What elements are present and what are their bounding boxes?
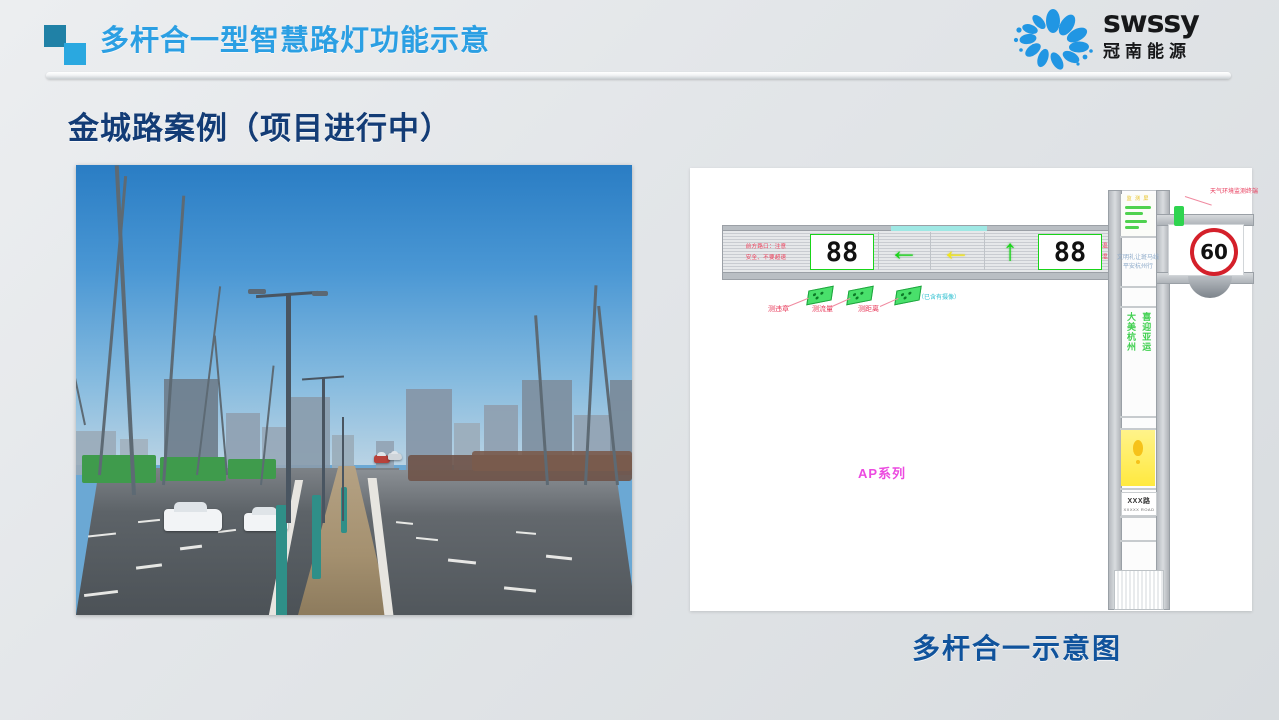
pole-left-rail — [1108, 190, 1122, 610]
lane-arrow-3: ↑ — [984, 232, 1035, 270]
advertising-panel — [1121, 430, 1155, 486]
lane-arrow-1: ← — [878, 232, 929, 270]
logo-text-block: swssy 冠南能源 — [1103, 8, 1259, 60]
photo-lamp-head — [312, 291, 328, 296]
photo-lamp-pole — [342, 417, 344, 521]
marker-square-light — [64, 43, 86, 65]
sensor-note: （已含有摄像） — [918, 292, 960, 301]
street-photo — [76, 165, 632, 615]
blue-slogan-line-2: 平安杭州行 — [1115, 263, 1161, 272]
pole-diagram-panel: 前方路口：注意 安全、不要超速 88 ← ← ↑ 88 温度：25℃ PM2.5… — [690, 168, 1252, 611]
photo-truck — [160, 457, 226, 481]
countdown-digits-right: 88 — [1054, 239, 1087, 266]
photo-lamp-pole — [322, 377, 325, 523]
blue-slogan-panel: 文明礼让斑马线 平安杭州行 — [1115, 254, 1161, 272]
photo-lamp-head — [248, 289, 266, 294]
ap-series-label: AP系列 — [858, 463, 906, 482]
header-divider — [46, 72, 1231, 79]
marker-square-dark — [44, 25, 66, 47]
vertical-slogan-right: 喜迎亚运 — [1140, 312, 1151, 418]
header-marker-icon — [44, 25, 92, 67]
logo-chinese-name: 冠南能源 — [1103, 43, 1259, 60]
speed-limit-value: 60 — [1200, 240, 1228, 264]
company-logo: swssy 冠南能源 — [1007, 6, 1257, 72]
street-name-cn: XXX路 — [1127, 496, 1150, 506]
dome-camera-icon — [1188, 276, 1232, 298]
countdown-display-right: 88 — [1038, 234, 1102, 270]
led-message-board: 前方路口：注意 安全、不要超速 — [730, 236, 802, 266]
logo-emblem-icon — [1007, 8, 1099, 70]
vertical-slogan-left: 大美杭州 — [1125, 312, 1136, 418]
photo-tree — [312, 495, 321, 579]
countdown-display-left: 88 — [810, 234, 874, 270]
diagram-caption: 多杆合一示意图 — [912, 627, 1122, 667]
sensor-icon-1 — [806, 286, 834, 306]
monitor-screen-panel: 监 测 屏 — [1121, 194, 1155, 236]
photo-car — [388, 453, 402, 460]
speed-limit-sign: 60 — [1190, 228, 1238, 276]
ad-graphic-icon — [1133, 440, 1143, 456]
countdown-digits-left: 88 — [826, 239, 859, 266]
pole-base — [1114, 570, 1164, 610]
monitor-screen-title: 监 测 屏 — [1121, 195, 1155, 202]
slide-root: 多杆合一型智慧路灯功能示意 — [0, 0, 1279, 720]
logo-wordmark: swssy — [1103, 8, 1259, 38]
sensor-icon-2 — [846, 286, 874, 306]
weather-sensor-icon — [1174, 206, 1184, 226]
beam-highlight — [891, 226, 987, 231]
street-name-pinyin: XXXXX ROAD — [1123, 507, 1154, 512]
street-name-plate: XXX路 XXXXX ROAD — [1121, 492, 1157, 516]
ad-graphic-dot-icon — [1136, 460, 1140, 464]
sensor-label-3: 测距离 — [858, 304, 879, 314]
slide-header: 多杆合一型智慧路灯功能示意 — [0, 0, 1279, 80]
section-subtitle: 金城路案例（项目进行中） — [68, 103, 452, 148]
sensor-label-1: 测违章 — [768, 304, 789, 314]
led-message-line-2: 安全、不要超速 — [746, 252, 787, 260]
photo-lamp-pole — [286, 293, 291, 523]
led-message-line-1: 前方路口：注意 — [746, 241, 787, 249]
road-right-carriageway — [354, 470, 632, 615]
weather-callout-line — [1185, 196, 1212, 206]
photo-truck — [82, 455, 156, 483]
photo-truck — [228, 459, 276, 479]
sensor-label-2: 测流量 — [812, 304, 833, 314]
weather-sensor-label: 天气环境监测终端 — [1210, 186, 1258, 195]
blue-slogan-line-1: 文明礼让斑马线 — [1115, 254, 1161, 263]
page-title: 多杆合一型智慧路灯功能示意 — [100, 17, 490, 59]
gantry-beam-bottom — [722, 272, 1154, 280]
lane-arrow-2: ← — [930, 232, 981, 270]
photo-car — [164, 509, 222, 531]
vertical-slogan-panel: 喜迎亚运 大美杭州 — [1121, 308, 1155, 418]
